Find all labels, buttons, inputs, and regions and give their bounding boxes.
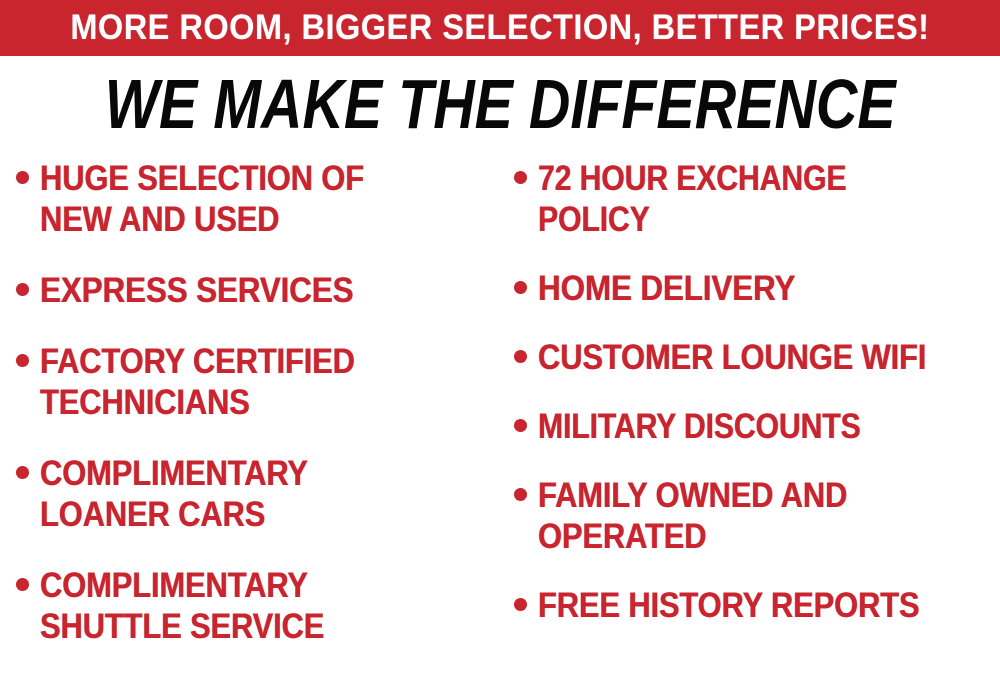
benefit-label: COMPLIMENTARY SHUTTLE SERVICE [40,565,444,647]
list-item: FAMILY OWNED AND OPERATED [514,475,998,557]
list-item: CUSTOMER LOUNGE WIFI [514,337,998,378]
benefit-label: MILITARY DISCOUNTS [538,406,936,447]
benefit-label: COMPLIMENTARY LOANER CARS [40,453,444,535]
benefit-label: EXPRESS SERVICES [40,270,450,311]
list-item: COMPLIMENTARY LOANER CARS [16,453,496,535]
benefit-label: FAMILY OWNED AND OPERATED [538,475,945,557]
bullet-dot-icon [514,171,527,184]
page-title: WE MAKE THE DIFFERENCE [105,67,896,141]
bullet-dot-icon [514,419,527,432]
bullet-dot-icon [16,466,29,479]
bullet-dot-icon [16,578,29,591]
benefit-label: FREE HISTORY REPORTS [538,585,945,626]
benefit-label: 72 HOUR EXCHANGE POLICY [538,158,936,240]
promo-banner-text: MORE ROOM, BIGGER SELECTION, BETTER PRIC… [70,10,929,46]
benefit-label: HUGE SELECTION OF NEW AND USED [40,158,444,240]
promo-banner: MORE ROOM, BIGGER SELECTION, BETTER PRIC… [0,0,1000,56]
list-item: HUGE SELECTION OF NEW AND USED [16,158,496,240]
benefit-label: HOME DELIVERY [538,268,952,309]
list-item: MILITARY DISCOUNTS [514,406,998,447]
bullet-dot-icon [514,350,527,363]
list-item: EXPRESS SERVICES [16,270,496,311]
list-item: COMPLIMENTARY SHUTTLE SERVICE [16,565,496,647]
bullet-dot-icon [514,488,527,501]
benefits-columns: HUGE SELECTION OF NEW AND USED EXPRESS S… [0,158,1000,694]
bullet-dot-icon [16,354,29,367]
bullet-dot-icon [16,283,29,296]
benefit-label: FACTORY CERTIFIED TECHNICIANS [40,341,444,423]
benefits-left-column: HUGE SELECTION OF NEW AND USED EXPRESS S… [0,158,500,677]
bullet-dot-icon [514,598,527,611]
list-item: 72 HOUR EXCHANGE POLICY [514,158,998,240]
list-item: FREE HISTORY REPORTS [514,585,998,626]
list-item: HOME DELIVERY [514,268,998,309]
benefit-label: CUSTOMER LOUNGE WIFI [538,337,945,378]
list-item: FACTORY CERTIFIED TECHNICIANS [16,341,496,423]
advertisement-banner: MORE ROOM, BIGGER SELECTION, BETTER PRIC… [0,0,1000,694]
benefits-right-column: 72 HOUR EXCHANGE POLICY HOME DELIVERY CU… [500,158,1000,654]
bullet-dot-icon [514,281,527,294]
headline-container: WE MAKE THE DIFFERENCE [0,62,1000,146]
bullet-dot-icon [16,171,29,184]
